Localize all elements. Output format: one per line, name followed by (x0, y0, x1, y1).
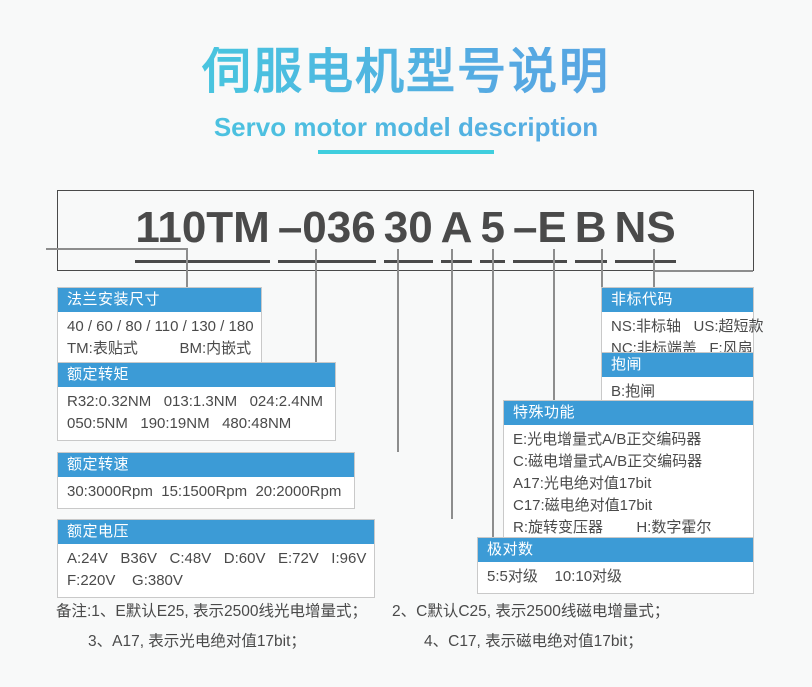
info-box-polepairs: 极对数 5:5对级 10:10对级 (477, 537, 754, 594)
info-box-special-title: 特殊功能 (504, 401, 753, 425)
leader-line-speed (397, 249, 399, 452)
info-line: NS:非标轴 US:超短款 (611, 316, 744, 338)
info-box-torque: 额定转矩 R32:0.32NM 013:1.3NM 024:2.4NM 050:… (57, 362, 336, 441)
leader-line-pole-pairs (492, 249, 494, 537)
info-box-flange-body: 40 / 60 / 80 / 110 / 130 / 180 TM:表贴式 BM… (58, 312, 261, 365)
page-title-cn: 伺服电机型号说明 (0, 47, 812, 99)
info-box-polepairs-title: 极对数 (478, 538, 753, 562)
info-line: R:旋转变压器 H:数字霍尔 (513, 517, 744, 539)
note-1: 备注:1、E默认E25, 表示2500线光电增量式； (0, 597, 392, 627)
info-line: A:24V B36V C:48V D:60V E:72V I:96V (67, 548, 365, 570)
info-box-voltage-body: A:24V B36V C:48V D:60V E:72V I:96V F:220… (58, 544, 374, 597)
leader-stub-right (653, 270, 753, 272)
info-line: 30:3000Rpm 15:1500Rpm 20:2000Rpm (67, 481, 345, 503)
infographic-canvas: 伺服电机型号说明 Servo motor model description 1… (0, 0, 812, 687)
info-line: 050:5NM 190:19NM 480:48NM (67, 413, 326, 435)
info-box-speed-body: 30:3000Rpm 15:1500Rpm 20:2000Rpm (58, 477, 354, 508)
model-segment-speed: 30 (384, 199, 433, 263)
notes-row: 备注:1、E默认E25, 表示2500线光电增量式； 2、C默认C25, 表示2… (0, 597, 812, 627)
note-4: 4、C17, 表示磁电绝对值17bit； (392, 627, 812, 657)
info-box-flange-title: 法兰安装尺寸 (58, 288, 261, 312)
model-segment-frame-size: 110TM (135, 199, 270, 263)
notes-block: 备注:1、E默认E25, 表示2500线光电增量式； 2、C默认C25, 表示2… (0, 597, 812, 657)
notes-row: 3、A17, 表示光电绝对值17bit； 4、C17, 表示磁电绝对值17bit… (0, 627, 812, 657)
leader-line-special (553, 249, 555, 400)
info-line: 40 / 60 / 80 / 110 / 130 / 180 (67, 316, 252, 338)
info-line: A17:光电绝对值17bit (513, 473, 744, 495)
info-box-brake-title: 抱闸 (602, 353, 753, 377)
info-box-voltage-title: 额定电压 (58, 520, 374, 544)
page-subtitle-en: Servo motor model description (0, 112, 812, 143)
model-segment-nonstandard: NS (615, 199, 676, 263)
leader-stub-left (46, 248, 188, 250)
leader-line-flange (186, 249, 188, 287)
info-box-nonstandard-title: 非标代码 (602, 288, 753, 312)
model-segment-torque: –036 (278, 199, 376, 263)
info-line: 5:5对级 10:10对级 (487, 566, 744, 588)
model-segment-special: –E (513, 199, 567, 263)
info-box-speed-title: 额定转速 (58, 453, 354, 477)
info-line: TM:表贴式 BM:内嵌式 (67, 338, 252, 360)
model-segment-voltage: A (441, 199, 473, 263)
info-line: F:220V G:380V (67, 570, 365, 592)
note-2: 2、C默认C25, 表示2500线磁电增量式； (392, 597, 812, 627)
info-line: C:磁电增量式A/B正交编码器 (513, 451, 744, 473)
info-box-flange: 法兰安装尺寸 40 / 60 / 80 / 110 / 130 / 180 TM… (57, 287, 262, 366)
leader-line-voltage (451, 249, 453, 519)
info-box-torque-body: R32:0.32NM 013:1.3NM 024:2.4NM 050:5NM 1… (58, 387, 335, 440)
info-box-speed: 额定转速 30:3000Rpm 15:1500Rpm 20:2000Rpm (57, 452, 355, 509)
leader-line-nonstandard (653, 249, 655, 287)
leader-line-torque (315, 249, 317, 362)
info-box-torque-title: 额定转矩 (58, 363, 335, 387)
model-number-row: 110TM –036 30 A 5 –E B NS (57, 190, 754, 271)
info-box-voltage: 额定电压 A:24V B36V C:48V D:60V E:72V I:96V … (57, 519, 375, 598)
note-3: 3、A17, 表示光电绝对值17bit； (0, 627, 392, 657)
info-line: R32:0.32NM 013:1.3NM 024:2.4NM (67, 391, 326, 413)
info-line: E:光电增量式A/B正交编码器 (513, 429, 744, 451)
title-underline-rule (318, 150, 494, 154)
info-box-polepairs-body: 5:5对级 10:10对级 (478, 562, 753, 593)
info-line: C17:磁电绝对值17bit (513, 495, 744, 517)
